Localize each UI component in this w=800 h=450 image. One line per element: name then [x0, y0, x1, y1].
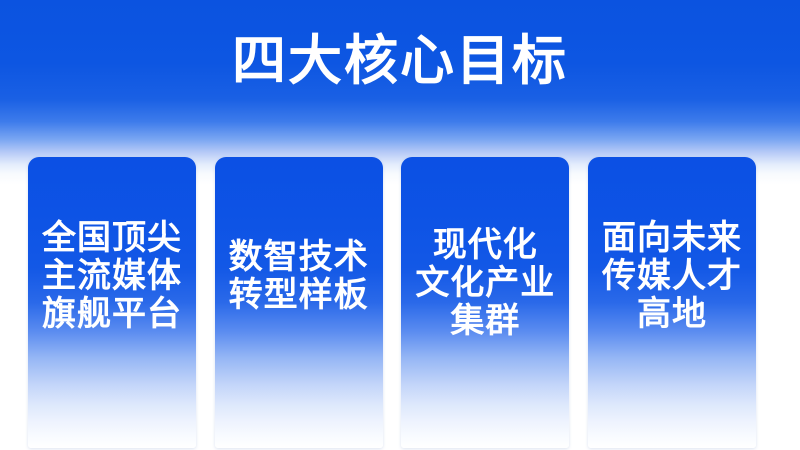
- goal-card-4[interactable]: 面向未来 传媒人才 高地: [588, 157, 756, 448]
- page-title: 四大核心目标: [0, 32, 800, 90]
- goal-card-3[interactable]: 现代化 文化产业 集群: [401, 157, 569, 448]
- goal-card-3-line-3: 集群: [401, 302, 569, 340]
- goal-card-2[interactable]: 数智技术 转型样板: [215, 157, 383, 448]
- goal-card-4-line-1: 面向未来: [588, 219, 756, 257]
- goal-card-1-line-1: 全国顶尖: [28, 219, 196, 257]
- goal-card-4-line-3: 高地: [588, 295, 756, 333]
- goal-card-1-line-2: 主流媒体: [28, 257, 196, 295]
- goal-card-3-text: 现代化 文化产业 集群: [401, 226, 569, 340]
- goal-card-1-text: 全国顶尖 主流媒体 旗舰平台: [28, 219, 196, 333]
- goal-card-1[interactable]: 全国顶尖 主流媒体 旗舰平台: [28, 157, 196, 448]
- goal-card-3-line-2: 文化产业: [401, 264, 569, 302]
- goal-card-2-line-1: 数智技术: [215, 238, 383, 276]
- goal-card-row: 全国顶尖 主流媒体 旗舰平台 数智技术 转型样板 现代化 文化产业 集群 面向未…: [28, 157, 756, 448]
- goal-card-4-text: 面向未来 传媒人才 高地: [588, 219, 756, 333]
- goal-card-2-text: 数智技术 转型样板: [215, 238, 383, 314]
- slide-canvas: 四大核心目标 全国顶尖 主流媒体 旗舰平台 数智技术 转型样板 现代化 文化产业…: [0, 0, 800, 450]
- goal-card-4-line-2: 传媒人才: [588, 257, 756, 295]
- goal-card-2-line-2: 转型样板: [215, 276, 383, 314]
- goal-card-1-line-3: 旗舰平台: [28, 295, 196, 333]
- goal-card-3-line-1: 现代化: [401, 226, 569, 264]
